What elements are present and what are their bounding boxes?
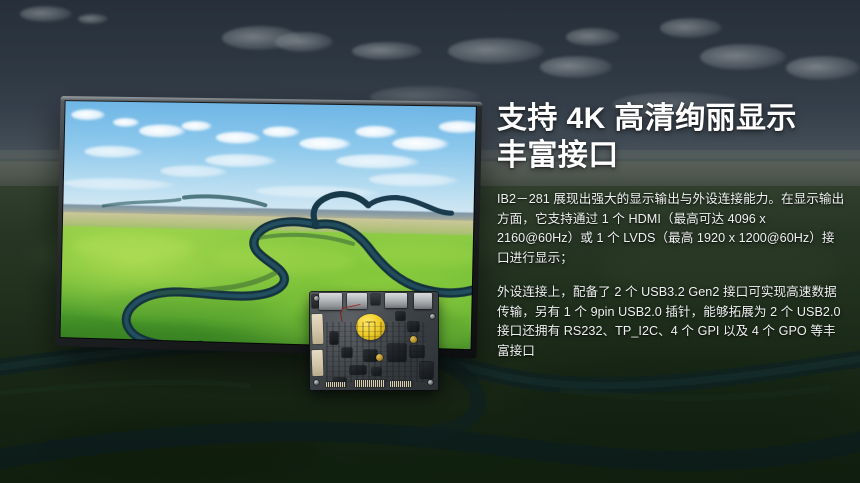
smd-texture: [326, 322, 426, 382]
connector-edp: [312, 350, 324, 376]
body-copy: IB2－281 展现出强大的显示输出与外设连接能力。在显示输出方面，它支持通过 …: [497, 190, 845, 361]
motherboard: CR2032: [310, 292, 438, 390]
mounting-screw-right: [410, 336, 417, 343]
page-title: 支持 4K 高清绚丽显示 丰富接口: [497, 100, 845, 174]
product-slide: CR2032 支持 4K 高清绚丽显示 丰富接口 IB2－281 展现出强大的显…: [0, 0, 860, 483]
mounting-hole-bottom-left: [314, 380, 319, 385]
mounting-screw-mid: [376, 354, 383, 361]
pin-header-rs232: [326, 382, 346, 387]
pin-header-gpio: [390, 381, 412, 387]
paragraph-peripheral-io: 外设连接上，配备了 2 个 USB3.2 Gen2 接口可实现高速数据传输，另有…: [497, 283, 845, 361]
port-lan-usb-stack: [319, 293, 342, 310]
paragraph-display-output: IB2－281 展现出强大的显示输出与外设连接能力。在显示输出方面，它支持通过 …: [497, 190, 845, 268]
screen-river: [66, 101, 476, 107]
mounting-hole-top-left: [314, 296, 319, 301]
mounting-hole-top-right: [430, 314, 435, 319]
mounting-hole-bottom-right: [428, 380, 433, 385]
port-usb: [414, 293, 432, 309]
copy-column: 支持 4K 高清绚丽显示 丰富接口 IB2－281 展现出强大的显示输出与外设连…: [497, 100, 845, 361]
port-hdmi: [385, 293, 407, 308]
connector-lvds: [311, 314, 323, 344]
port-small-connector: [371, 294, 380, 305]
pin-header-usb20: [355, 380, 385, 387]
